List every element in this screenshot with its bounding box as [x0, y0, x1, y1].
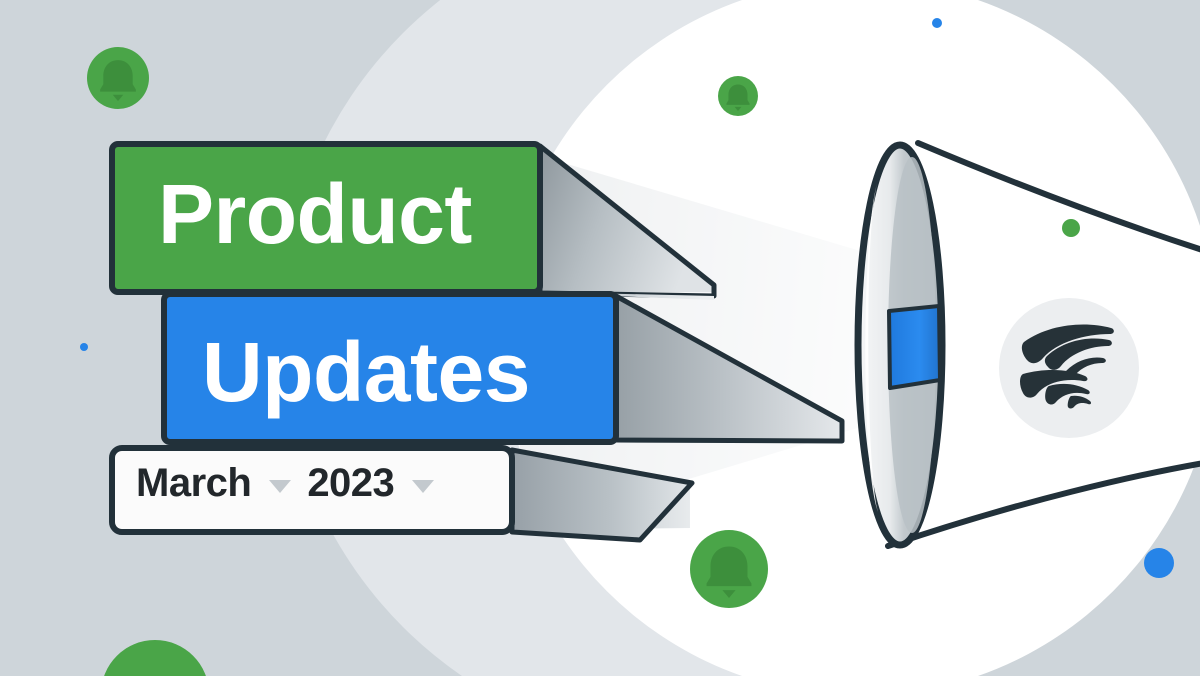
product-block-label: Product: [158, 172, 472, 256]
bell-badge-top-left: [87, 47, 149, 109]
brand-badge: [999, 298, 1139, 438]
dot-blue-small-top: [932, 18, 942, 28]
bell-badge-bottom: [690, 530, 768, 608]
bell-badge-top-center: [718, 76, 758, 116]
dot-blue-tiny-left: [80, 343, 88, 351]
megaphone-blue-band: [889, 306, 940, 388]
dot-green-on-cone: [1062, 219, 1080, 237]
month-value[interactable]: March: [136, 463, 251, 503]
updates-block-label: Updates: [202, 330, 530, 414]
year-value[interactable]: 2023: [307, 463, 394, 503]
brand-badge-circle: [999, 298, 1139, 438]
dot-blue-large-right: [1144, 548, 1174, 578]
date-selector[interactable]: March 2023: [136, 463, 434, 503]
caret-down-icon[interactable]: [269, 480, 291, 493]
product-updates-banner: Product Updates March 2023: [0, 0, 1200, 676]
banner-artwork: [0, 0, 1200, 676]
caret-down-icon[interactable]: [412, 480, 434, 493]
